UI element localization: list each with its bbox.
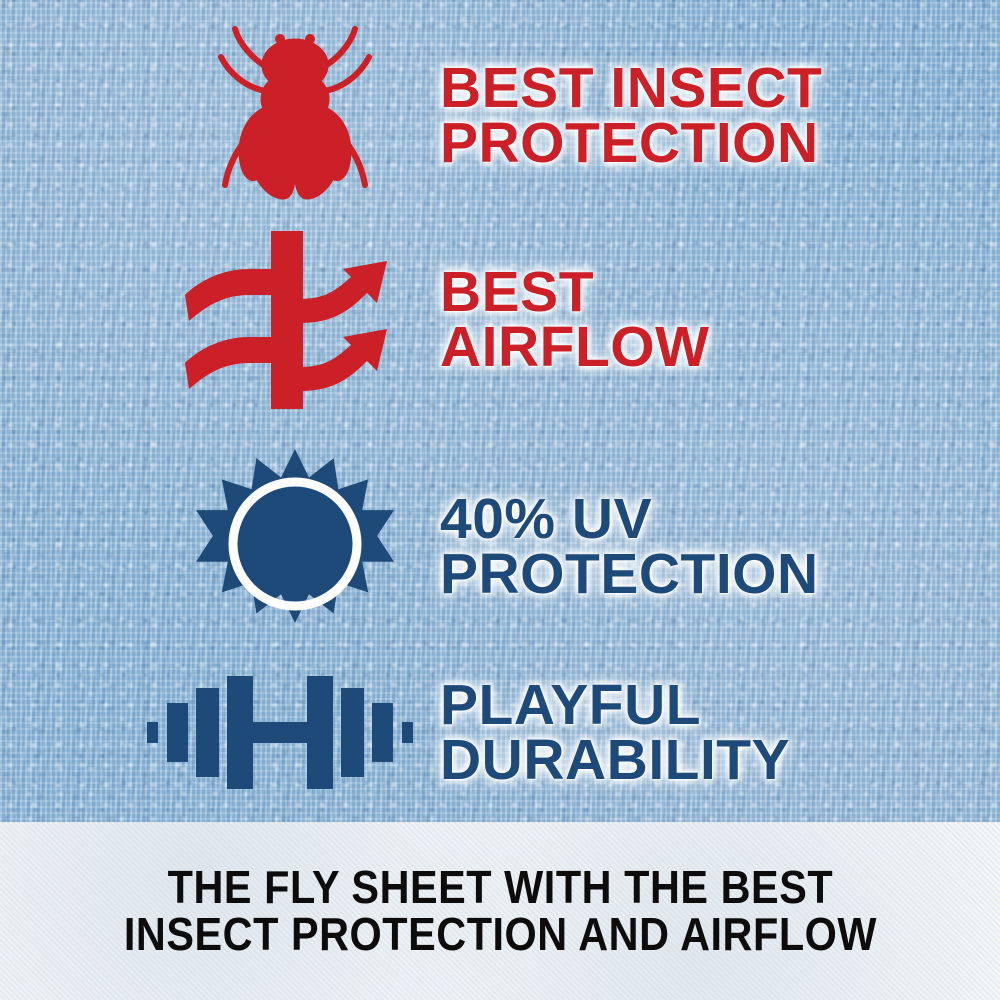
dumbbell-icon [145, 670, 415, 795]
sun-icon-cell [150, 444, 440, 649]
feature-row-durability: PLAYFUL DURABILITY [120, 655, 990, 810]
feature-label-insect-protection: BEST INSECT PROTECTION [440, 61, 822, 170]
fly-icon [195, 21, 395, 211]
fly-icon-cell [150, 21, 440, 211]
feature-label-uv-protection: 40% UV PROTECTION [440, 492, 819, 601]
feature-row-uv-protection: 40% UV PROTECTION [150, 444, 990, 649]
feature-label-airflow: BEST AIRFLOW [440, 265, 709, 374]
banner-headline: THE FLY SHEET WITH THE BEST INSECT PROTE… [123, 864, 876, 959]
dumbbell-icon-cell [120, 663, 440, 803]
infographic-canvas: BEST INSECT PROTECTION BEST AIRFLO [0, 0, 1000, 1000]
feature-label-durability: PLAYFUL DURABILITY [440, 678, 790, 787]
feature-row-insect-protection: BEST INSECT PROTECTION [150, 18, 990, 213]
airflow-icon-cell [150, 225, 440, 415]
feature-row-airflow: BEST AIRFLOW [150, 222, 990, 417]
sun-icon [195, 447, 395, 647]
bottom-banner: THE FLY SHEET WITH THE BEST INSECT PROTE… [0, 822, 1000, 1000]
airflow-arrows-icon [175, 225, 415, 415]
